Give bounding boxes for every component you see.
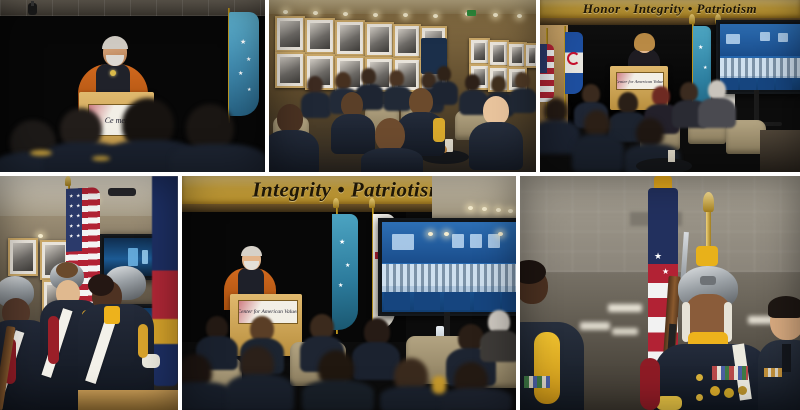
photo-panel-top-left[interactable]: ★ ★ ★ ★ Ce meri [0, 0, 265, 172]
service-flag [332, 214, 358, 330]
medal-of-honor-flag [229, 12, 259, 116]
cadet-head [483, 96, 509, 125]
scene-color-guard-closeup: ★ ★ [520, 176, 800, 410]
photo-panel-bottom-middle[interactable]: Integrity • Patriotism ★ ★ ★ [182, 176, 516, 410]
scene-cadet-audience [269, 0, 536, 172]
track-light-icon [108, 188, 136, 196]
cadet-head [409, 88, 433, 115]
speaker-hair [634, 33, 655, 51]
uniform-button-icon [696, 374, 703, 381]
cadet-uniform [361, 148, 423, 172]
cadet-uniform [331, 114, 375, 154]
medal-icon [738, 386, 747, 395]
audience-shoulders [170, 144, 265, 172]
uniform-button-icon [696, 394, 703, 401]
cadet-hair-bun [56, 262, 78, 278]
ribbon-rack [712, 366, 748, 380]
medal-icon [724, 388, 734, 398]
coffee-cup-icon [668, 150, 675, 162]
staff-spear-icon [703, 192, 714, 212]
ribbon-rack [524, 376, 550, 388]
scene-color-guard-wide: ★ ★ ★ ★ ★ ★ ★ ★ ★ ★ [0, 176, 178, 410]
photo-panel-bottom-left[interactable]: ★ ★ ★ ★ ★ ★ ★ ★ ★ ★ [0, 176, 178, 410]
cadet-hair [88, 274, 114, 296]
wall-monitor [378, 218, 516, 316]
scene-speaker-stage: ★ ★ ★ ★ Ce meri [0, 0, 265, 172]
wall-motto-text: Honor • Integrity • Patriotism [540, 1, 800, 17]
helmet-insignia-icon [700, 276, 716, 285]
cadet-hair [768, 296, 800, 318]
exit-sign-icon [467, 10, 476, 16]
cadet-uniform [469, 122, 523, 170]
ribbon-rack [764, 368, 782, 377]
us-flag [540, 44, 554, 102]
cadet-uniform [269, 130, 319, 172]
photo-panel-top-middle[interactable] [269, 0, 536, 172]
monitor-screen [720, 24, 800, 90]
cadet-head [277, 104, 303, 133]
ascot [104, 306, 120, 324]
photo-collage: ★ ★ ★ ★ Ce meri [0, 0, 800, 410]
podium-sign-text: Center for American Values [616, 79, 664, 84]
photo-panel-top-right[interactable]: Honor • Integrity • Patriotism ★ ★ [540, 0, 800, 172]
staff-tassel [696, 246, 718, 266]
monitor-screen [382, 222, 516, 312]
shoulder-cord [534, 332, 560, 404]
necktie-icon [782, 344, 791, 372]
wall-motto-band: Honor • Integrity • Patriotism [540, 0, 800, 18]
photo-panel-bottom-right[interactable]: ★ ★ [520, 176, 800, 410]
cadet-head [375, 118, 405, 152]
speaker-medal-icon [110, 70, 116, 76]
scene-auditorium-wide: Integrity • Patriotism ★ ★ ★ [182, 176, 516, 410]
wall-monitor [716, 20, 800, 94]
medal-icon [710, 386, 720, 396]
podium-sign-text: Center for American Values [238, 309, 298, 315]
scene-stage-with-monitor: Honor • Integrity • Patriotism ★ ★ [540, 0, 800, 172]
